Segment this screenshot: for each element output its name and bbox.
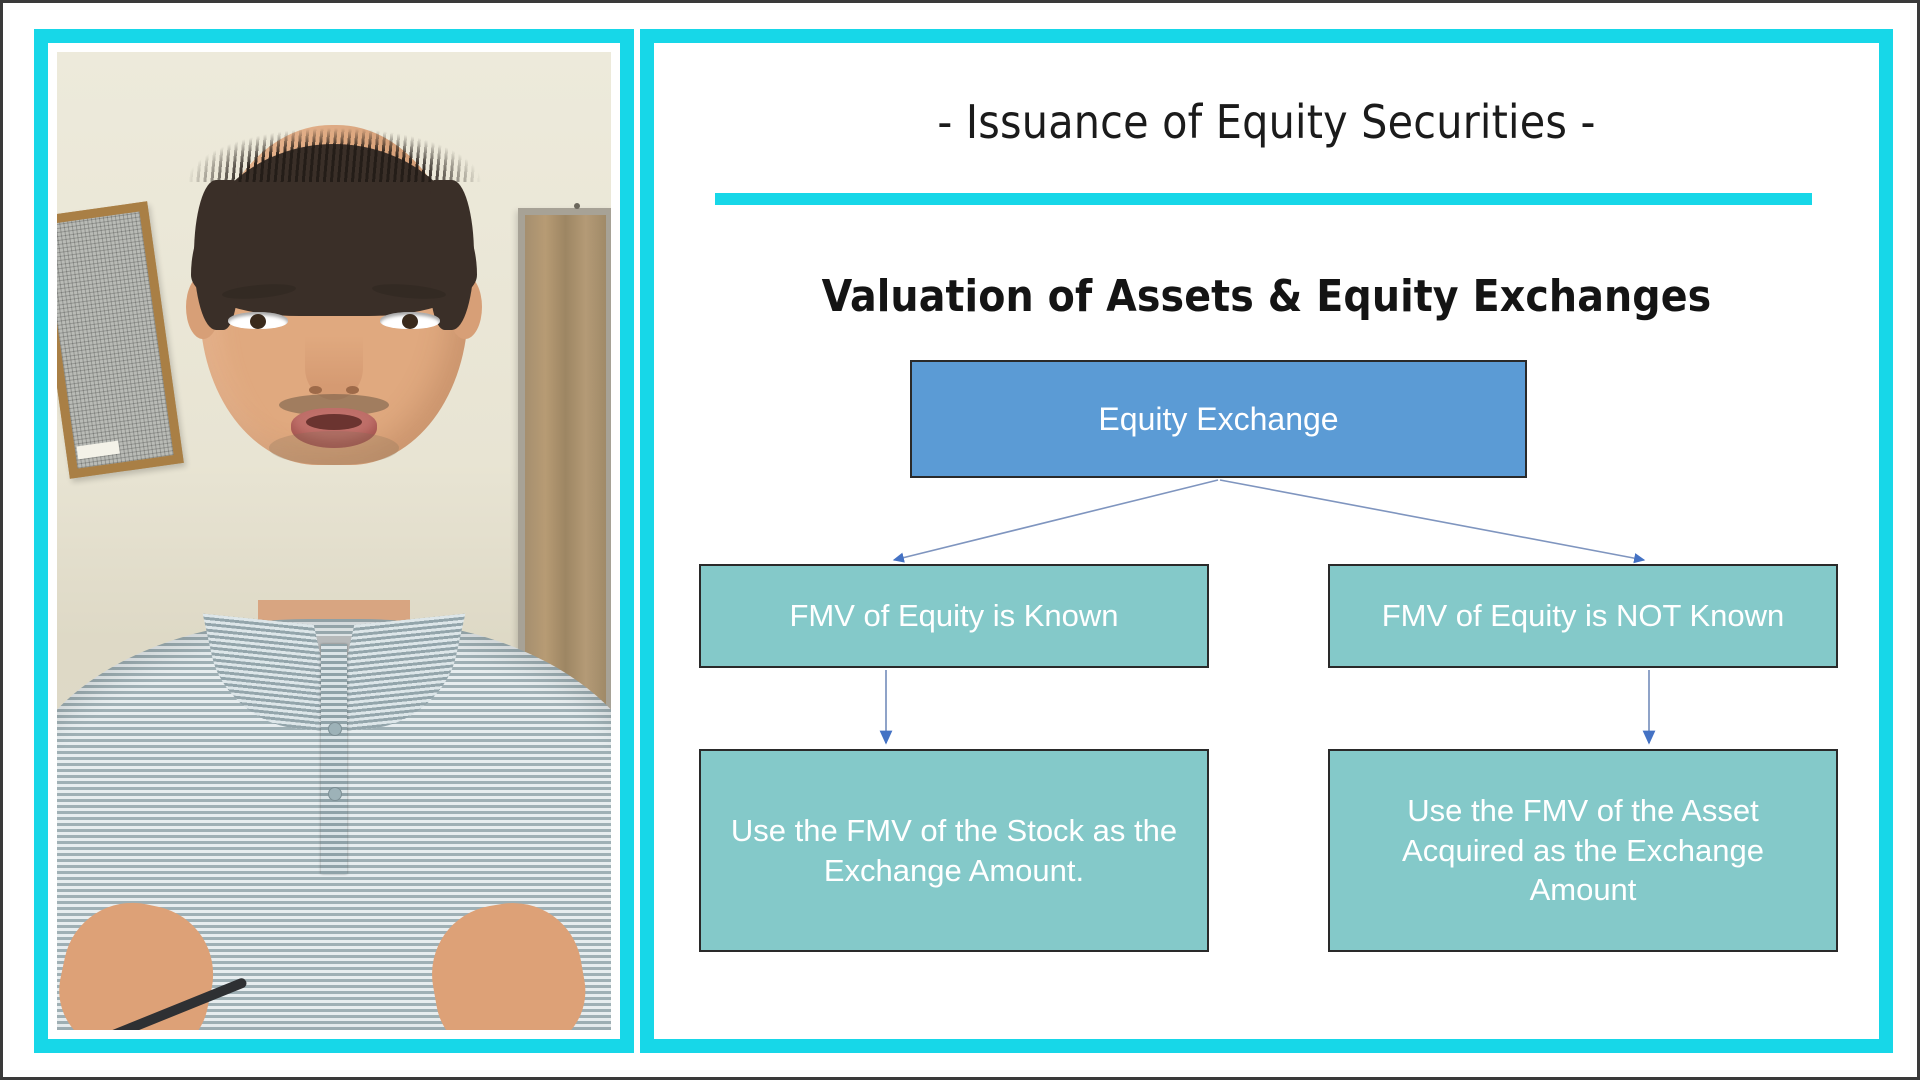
presenter-video-feed — [57, 52, 611, 1030]
shirt-collar-right — [331, 614, 466, 733]
shirt-placket — [321, 644, 347, 874]
connector-root-to-fmv-known — [894, 480, 1218, 560]
presenter-eye-right — [380, 312, 440, 329]
presenter-mouth-opening — [306, 414, 362, 430]
flow-node-label: FMV of Equity is NOT Known — [1382, 596, 1785, 636]
connector-root-to-fmv-not-known — [1220, 480, 1644, 560]
flowchart: Equity Exchange FMV of Equity is Known F… — [654, 43, 1879, 1039]
flow-node-label: Equity Exchange — [1098, 399, 1338, 440]
presenter-head — [200, 125, 468, 465]
flow-node-label: FMV of Equity is Known — [789, 596, 1118, 636]
presenter-figure — [57, 52, 611, 1030]
presenter-nostril-right — [346, 386, 359, 394]
presenter-nostril-left — [309, 386, 322, 394]
shirt-collar-left — [203, 614, 338, 733]
slide-canvas: - Issuance of Equity Securities - Valuat… — [654, 43, 1879, 1039]
presenter-video-panel — [34, 29, 634, 1053]
presenter-nose — [305, 336, 363, 400]
presenter-chin-shadow — [269, 431, 399, 465]
shirt-button — [328, 787, 342, 801]
flow-node-use-stock-fmv[interactable]: Use the FMV of the Stock as the Exchange… — [699, 749, 1209, 952]
flow-node-fmv-known[interactable]: FMV of Equity is Known — [699, 564, 1209, 668]
presenter-eye-left — [228, 312, 288, 329]
presentation-slide-panel: - Issuance of Equity Securities - Valuat… — [640, 29, 1893, 1053]
flow-node-fmv-not-known[interactable]: FMV of Equity is NOT Known — [1328, 564, 1838, 668]
shirt-button — [328, 722, 342, 736]
presenter-hair-side-left — [194, 180, 238, 330]
flow-node-equity-exchange[interactable]: Equity Exchange — [910, 360, 1527, 478]
presenter-hair-side-right — [430, 180, 474, 330]
flow-node-use-asset-fmv[interactable]: Use the FMV of the Asset Acquired as the… — [1328, 749, 1838, 952]
presenter-pupil-left — [250, 314, 266, 329]
presenter-pupil-right — [402, 314, 418, 329]
screen-root: - Issuance of Equity Securities - Valuat… — [0, 0, 1920, 1080]
flow-node-label: Use the FMV of the Asset Acquired as the… — [1348, 791, 1818, 910]
flow-node-label: Use the FMV of the Stock as the Exchange… — [719, 811, 1189, 890]
